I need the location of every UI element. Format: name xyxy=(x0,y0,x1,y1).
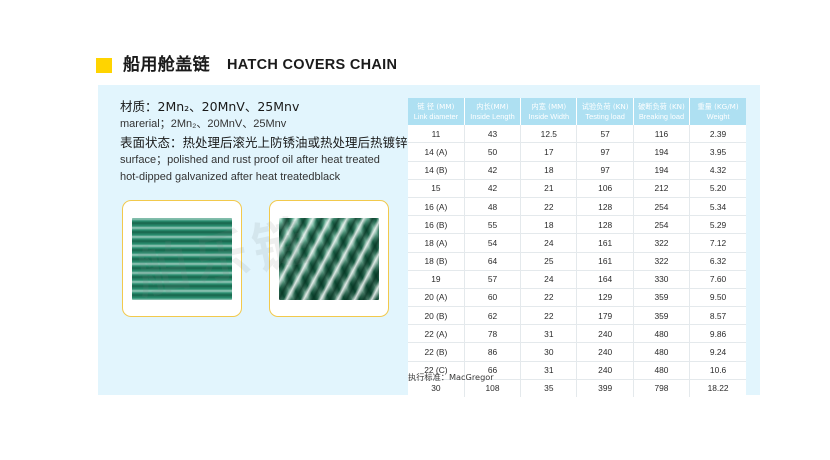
col-link-diameter: 链 径 (MM) Link diameter xyxy=(408,98,464,125)
table-cell: 31 xyxy=(521,361,577,379)
table-cell: 15 xyxy=(408,179,464,197)
chain-photo-tangled xyxy=(279,218,379,300)
spec-material-cn: 材质：2Mn₂、20MnV、25Mnv xyxy=(120,97,420,116)
col-inside-width: 内宽 (MM) Inside Width xyxy=(521,98,577,125)
table-cell: 35 xyxy=(521,379,577,397)
table-cell: 55 xyxy=(464,216,520,234)
table-cell: 54 xyxy=(464,234,520,252)
table-row: 16 (A)48221282545.34 xyxy=(408,197,746,215)
table-cell: 60 xyxy=(464,288,520,306)
table-cell: 22 xyxy=(521,197,577,215)
spec-surface-en-1: surface；polished and rust proof oil afte… xyxy=(120,152,420,169)
table-cell: 42 xyxy=(464,161,520,179)
table-cell: 57 xyxy=(577,125,633,143)
table-cell: 18 xyxy=(521,161,577,179)
spec-table: 链 径 (MM) Link diameter 内长(MM) Inside Len… xyxy=(408,98,746,397)
table-cell: 359 xyxy=(633,307,689,325)
table-cell: 194 xyxy=(633,161,689,179)
col-testing-load-cn: 试验负荷 (KN) xyxy=(582,102,629,111)
table-cell: 25 xyxy=(521,252,577,270)
product-photo-gallery xyxy=(122,200,389,317)
col-link-diameter-en: Link diameter xyxy=(409,112,463,122)
table-cell: 31 xyxy=(521,325,577,343)
table-cell: 164 xyxy=(577,270,633,288)
table-cell: 798 xyxy=(633,379,689,397)
table-cell: 129 xyxy=(577,288,633,306)
table-cell: 5.20 xyxy=(690,179,746,197)
table-row: 18 (B)64251613226.32 xyxy=(408,252,746,270)
col-inside-length-en: Inside Length xyxy=(466,112,519,122)
table-cell: 24 xyxy=(521,270,577,288)
table-cell: 128 xyxy=(577,197,633,215)
col-breaking-load-cn: 破断负荷 (KN) xyxy=(638,102,685,111)
table-cell: 480 xyxy=(633,325,689,343)
table-cell: 240 xyxy=(577,343,633,361)
table-cell: 62 xyxy=(464,307,520,325)
table-cell: 322 xyxy=(633,252,689,270)
table-cell: 4.32 xyxy=(690,161,746,179)
table-cell: 5.34 xyxy=(690,197,746,215)
spec-text-block: 材质：2Mn₂、20MnV、25Mnv marerial；2Mn₂、20MnV、… xyxy=(120,97,420,186)
table-cell: 399 xyxy=(577,379,633,397)
table-cell: 22 (B) xyxy=(408,343,464,361)
table-cell: 18 (B) xyxy=(408,252,464,270)
table-cell: 18 (A) xyxy=(408,234,464,252)
spec-table-wrapper: 链 径 (MM) Link diameter 内长(MM) Inside Len… xyxy=(408,98,746,397)
table-cell: 14 (B) xyxy=(408,161,464,179)
col-inside-width-cn: 内宽 (MM) xyxy=(531,102,566,111)
table-row: 22 (A)78312404809.86 xyxy=(408,325,746,343)
table-cell: 106 xyxy=(577,179,633,197)
table-cell: 64 xyxy=(464,252,520,270)
content-panel: 材质：2Mn₂、20MnV、25Mnv marerial；2Mn₂、20MnV、… xyxy=(98,85,760,395)
table-cell: 18.22 xyxy=(690,379,746,397)
table-cell: 78 xyxy=(464,325,520,343)
table-cell: 97 xyxy=(577,143,633,161)
table-cell: 17 xyxy=(521,143,577,161)
table-cell: 9.50 xyxy=(690,288,746,306)
table-cell: 16 (A) xyxy=(408,197,464,215)
product-photo-card-1[interactable] xyxy=(122,200,242,317)
col-testing-load-en: Testing load xyxy=(578,112,631,122)
col-testing-load: 试验负荷 (KN) Testing load xyxy=(577,98,633,125)
table-row: 20 (A)60221293599.50 xyxy=(408,288,746,306)
table-cell: 254 xyxy=(633,216,689,234)
table-cell: 7.60 xyxy=(690,270,746,288)
table-cell: 2.39 xyxy=(690,125,746,143)
table-cell: 9.24 xyxy=(690,343,746,361)
table-row: 16 (B)55181282545.29 xyxy=(408,216,746,234)
table-cell: 57 xyxy=(464,270,520,288)
table-cell: 20 (B) xyxy=(408,307,464,325)
table-cell: 322 xyxy=(633,234,689,252)
page-title-cn: 船用舱盖链 xyxy=(123,57,210,74)
table-cell: 12.5 xyxy=(521,125,577,143)
table-cell: 194 xyxy=(633,143,689,161)
table-cell: 240 xyxy=(577,325,633,343)
table-cell: 480 xyxy=(633,343,689,361)
col-inside-width-en: Inside Width xyxy=(522,112,575,122)
col-inside-length: 内长(MM) Inside Length xyxy=(464,98,520,125)
table-cell: 240 xyxy=(577,361,633,379)
table-cell: 86 xyxy=(464,343,520,361)
page-title-en: HATCH COVERS CHAIN xyxy=(227,58,397,73)
table-cell: 19 xyxy=(408,270,464,288)
table-cell: 116 xyxy=(633,125,689,143)
table-cell: 3.95 xyxy=(690,143,746,161)
table-cell: 212 xyxy=(633,179,689,197)
table-cell: 48 xyxy=(464,197,520,215)
table-row: 20 (B)62221793598.57 xyxy=(408,307,746,325)
table-cell: 30 xyxy=(521,343,577,361)
table-cell: 6.32 xyxy=(690,252,746,270)
title-badge-icon xyxy=(96,58,112,73)
table-cell: 359 xyxy=(633,288,689,306)
table-row: 1957241643307.60 xyxy=(408,270,746,288)
table-cell: 14 (A) xyxy=(408,143,464,161)
table-cell: 8.57 xyxy=(690,307,746,325)
table-cell: 254 xyxy=(633,197,689,215)
spec-surface-cn: 表面状态：热处理后滚光上防锈油或热处理后热镀锌 xyxy=(120,133,420,152)
table-cell: 7.12 xyxy=(690,234,746,252)
table-cell: 20 (A) xyxy=(408,288,464,306)
table-cell: 179 xyxy=(577,307,633,325)
table-cell: 480 xyxy=(633,361,689,379)
table-row: 22 (B)86302404809.24 xyxy=(408,343,746,361)
table-cell: 42 xyxy=(464,179,520,197)
table-cell: 22 (A) xyxy=(408,325,464,343)
col-weight-en: Weight xyxy=(691,112,745,122)
table-cell: 330 xyxy=(633,270,689,288)
chain-photo-horizontal xyxy=(132,218,232,300)
table-cell: 5.29 xyxy=(690,216,746,234)
table-cell: 97 xyxy=(577,161,633,179)
table-cell: 161 xyxy=(577,252,633,270)
table-cell: 21 xyxy=(521,179,577,197)
spec-material-en: marerial；2Mn₂、20MnV、25Mnv xyxy=(120,116,420,133)
table-header-row: 链 径 (MM) Link diameter 内长(MM) Inside Len… xyxy=(408,98,746,125)
table-cell: 11 xyxy=(408,125,464,143)
table-row: 14 (A)5017971943.95 xyxy=(408,143,746,161)
table-cell: 43 xyxy=(464,125,520,143)
table-cell: 161 xyxy=(577,234,633,252)
col-weight: 重量 (KG/M) Weight xyxy=(690,98,746,125)
table-row: 1542211062125.20 xyxy=(408,179,746,197)
table-cell: 128 xyxy=(577,216,633,234)
table-cell: 22 xyxy=(521,288,577,306)
col-breaking-load: 破断负荷 (KN) Breaking load xyxy=(633,98,689,125)
table-row: 18 (A)54241613227.12 xyxy=(408,234,746,252)
page-title: 船用舱盖链 HATCH COVERS CHAIN xyxy=(96,57,397,74)
table-cell: 50 xyxy=(464,143,520,161)
table-standard-note: 执行标准：MacGregor xyxy=(408,371,494,383)
table-cell: 24 xyxy=(521,234,577,252)
table-cell: 9.86 xyxy=(690,325,746,343)
col-breaking-load-en: Breaking load xyxy=(635,112,688,122)
product-photo-card-2[interactable] xyxy=(269,200,389,317)
col-link-diameter-cn: 链 径 (MM) xyxy=(417,102,454,111)
col-inside-length-cn: 内长(MM) xyxy=(476,102,508,111)
table-cell: 10.6 xyxy=(690,361,746,379)
table-row: 14 (B)4218971944.32 xyxy=(408,161,746,179)
spec-surface-en-2: hot-dipped galvanized after heat treated… xyxy=(120,169,420,186)
table-body: 114312.5571162.3914 (A)5017971943.9514 (… xyxy=(408,125,746,397)
table-row: 114312.5571162.39 xyxy=(408,125,746,143)
col-weight-cn: 重量 (KG/M) xyxy=(697,102,738,111)
table-cell: 18 xyxy=(521,216,577,234)
table-cell: 22 xyxy=(521,307,577,325)
table-cell: 16 (B) xyxy=(408,216,464,234)
